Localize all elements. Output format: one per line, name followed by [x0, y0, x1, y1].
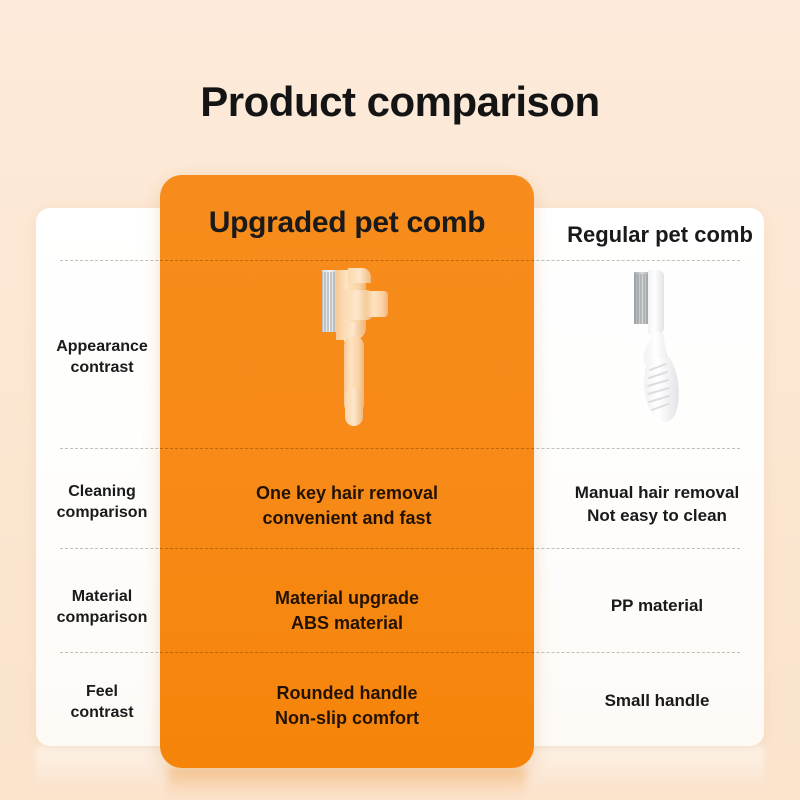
- regular-pet-comb-icon: [612, 264, 698, 432]
- column-header-upgraded: Upgraded pet comb: [160, 206, 534, 240]
- row-label-cleaning-line2: comparison: [36, 502, 168, 523]
- cell-regular-cleaning-line2: Not easy to clean: [540, 504, 774, 527]
- row-label-feel-line1: Feel: [36, 681, 168, 702]
- cell-regular-cleaning-line1: Manual hair removal: [540, 481, 774, 504]
- row-label-feel: Feel contrast: [36, 681, 168, 723]
- highlight-divider-appearance: [160, 448, 534, 449]
- cell-regular-feel: Small handle: [540, 689, 774, 712]
- column-header-regular: Regular pet comb: [540, 222, 780, 248]
- highlight-divider-material: [160, 652, 534, 653]
- cell-regular-feel-line1: Small handle: [540, 689, 774, 712]
- row-label-material: Material comparison: [36, 586, 168, 628]
- row-label-feel-line2: contrast: [36, 702, 168, 723]
- cell-upgraded-material-line2: ABS material: [175, 611, 519, 636]
- cell-upgraded-material: Material upgrade ABS material: [175, 586, 519, 636]
- cell-regular-cleaning: Manual hair removal Not easy to clean: [540, 481, 774, 528]
- cell-regular-material: PP material: [540, 594, 774, 617]
- row-label-appearance-line2: contrast: [36, 357, 168, 378]
- row-label-cleaning-line1: Cleaning: [36, 481, 168, 502]
- cell-regular-material-line1: PP material: [540, 594, 774, 617]
- highlight-divider-cleaning: [160, 548, 534, 549]
- cell-upgraded-cleaning: One key hair removal convenient and fast: [175, 481, 519, 531]
- cell-upgraded-feel: Rounded handle Non-slip comfort: [175, 681, 519, 731]
- row-label-material-line1: Material: [36, 586, 168, 607]
- page-title: Product comparison: [0, 78, 800, 126]
- cell-upgraded-material-line1: Material upgrade: [175, 586, 519, 611]
- highlight-divider-header: [160, 260, 534, 261]
- row-label-cleaning: Cleaning comparison: [36, 481, 168, 523]
- cell-upgraded-feel-line2: Non-slip comfort: [175, 706, 519, 731]
- row-label-appearance-line1: Appearance: [36, 336, 168, 357]
- cell-upgraded-cleaning-line2: convenient and fast: [175, 506, 519, 531]
- cell-upgraded-cleaning-line1: One key hair removal: [175, 481, 519, 506]
- highlight-card-reflection: [168, 768, 526, 798]
- upgraded-pet-comb-icon: [292, 262, 412, 434]
- cell-upgraded-feel-line1: Rounded handle: [175, 681, 519, 706]
- row-label-appearance: Appearance contrast: [36, 336, 168, 378]
- row-label-material-line2: comparison: [36, 607, 168, 628]
